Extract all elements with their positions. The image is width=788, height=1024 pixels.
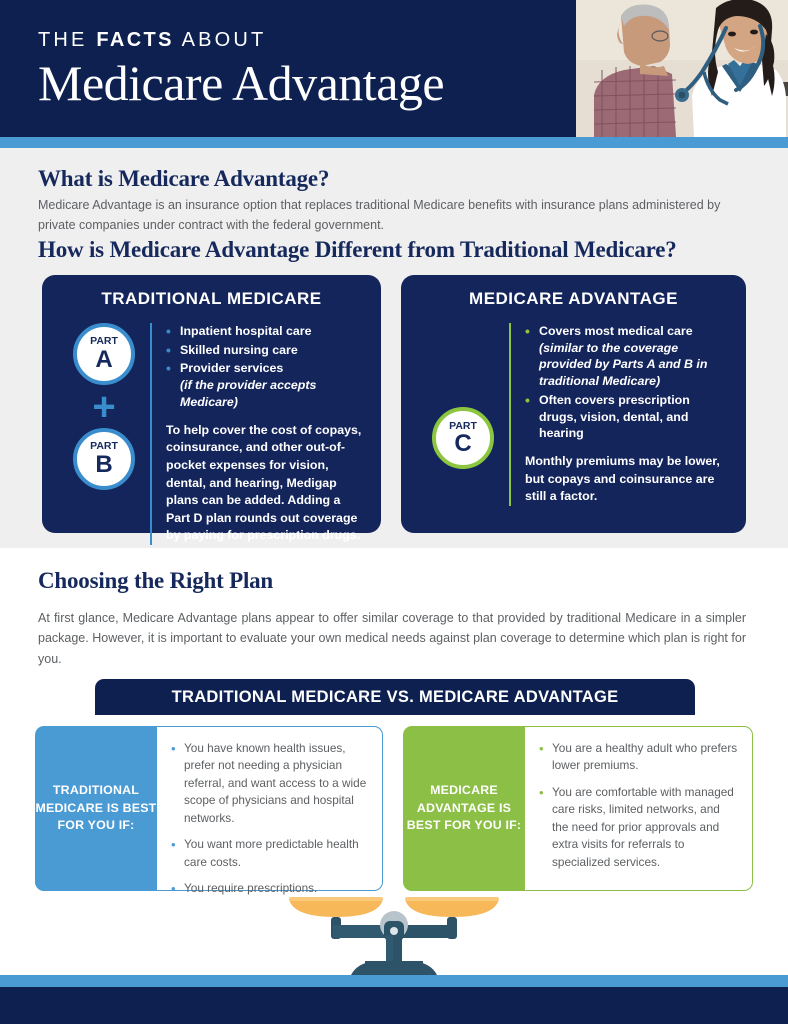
choosing-plan-section: Choosing the Right Plan At first glance,… (0, 548, 788, 975)
part-a-badge: PART A (73, 323, 135, 385)
list-item: You are comfortable with managed care ri… (539, 784, 738, 871)
doctor-patient-photo (576, 0, 788, 137)
what-is-block: What is Medicare Advantage? Medicare Adv… (38, 166, 738, 236)
advantage-divider (509, 323, 511, 506)
traditional-card-text: Inpatient hospital care Skilled nursing … (166, 323, 365, 545)
traditional-criteria-list: You have known health issues, prefer not… (171, 740, 368, 898)
advantage-panel-label: MEDICARE ADVANTAGE IS BEST FOR YOU IF: (403, 726, 525, 891)
advantage-card-title: MEDICARE ADVANTAGE (417, 289, 730, 309)
kicker-bold: FACTS (96, 29, 174, 51)
parts-column-c: PART C (417, 323, 509, 506)
traditional-medicare-card: TRADITIONAL MEDICARE PART A + PART B (42, 275, 381, 533)
advantage-panel-content: You are a healthy adult who prefers lowe… (525, 726, 753, 891)
footer-accent-bar (0, 975, 788, 987)
what-is-heading: What is Medicare Advantage? (38, 166, 738, 192)
header-kicker: THE FACTS ABOUT (38, 30, 444, 50)
advantage-paragraph: Monthly premiums may be lower, but copay… (525, 453, 730, 506)
list-item: Covers most medical care (similar to the… (525, 323, 730, 390)
advantage-card-text: Covers most medical care (similar to the… (525, 323, 730, 506)
footer-bar (0, 987, 788, 1024)
plan-cards: TRADITIONAL MEDICARE PART A + PART B (42, 275, 746, 533)
choosing-paragraph: At first glance, Medicare Advantage plan… (38, 608, 746, 669)
parts-column-ab: PART A + PART B (58, 323, 150, 545)
traditional-card-body: PART A + PART B Inpatient hospital care … (58, 323, 365, 545)
traditional-paragraph: To help cover the cost of copays, coinsu… (166, 422, 365, 545)
traditional-best-for-panel: TRADITIONAL MEDICARE IS BEST FOR YOU IF:… (35, 726, 383, 891)
covers-medical-care-note: (similar to the coverage provided by Par… (539, 341, 707, 388)
choosing-heading: Choosing the Right Plan (38, 568, 273, 594)
advantage-best-for-panel: MEDICARE ADVANTAGE IS BEST FOR YOU IF: Y… (403, 726, 753, 891)
intro-and-comparison-section: What is Medicare Advantage? Medicare Adv… (0, 148, 788, 548)
list-item: Often covers prescription drugs, vision,… (525, 392, 730, 442)
advantage-card-body: PART C Covers most medical care (similar… (417, 323, 730, 506)
comparison-panels: TRADITIONAL MEDICARE IS BEST FOR YOU IF:… (35, 726, 753, 891)
list-item: You are a healthy adult who prefers lowe… (539, 740, 738, 775)
list-item: You have known health issues, prefer not… (171, 740, 368, 827)
photo-illustration (576, 0, 788, 137)
balance-scale-illustration (283, 891, 505, 975)
traditional-bullets: Inpatient hospital care Skilled nursing … (166, 323, 365, 411)
what-is-paragraph: Medicare Advantage is an insurance optio… (38, 195, 738, 236)
balance-scale-icon (283, 891, 505, 980)
advantage-bullets: Covers most medical care (similar to the… (525, 323, 730, 442)
page-header: THE FACTS ABOUT Medicare Advantage (0, 0, 788, 137)
medicare-advantage-card: MEDICARE ADVANTAGE PART C Covers most me… (401, 275, 746, 533)
part-a-letter: A (95, 347, 112, 372)
header-accent-bar (0, 137, 788, 148)
provider-services-note: (if the provider accepts Medicare) (180, 378, 316, 409)
advantage-criteria-list: You are a healthy adult who prefers lowe… (539, 740, 738, 871)
list-item: You want more predictable health care co… (171, 836, 368, 871)
covers-medical-care-text: Covers most medical care (539, 324, 693, 338)
provider-services-text: Provider services (180, 361, 283, 375)
kicker-post: ABOUT (174, 29, 267, 51)
how-different-heading: How is Medicare Advantage Different from… (38, 237, 677, 263)
part-c-badge: PART C (432, 407, 494, 469)
list-item: Inpatient hospital care (166, 323, 365, 340)
comparison-table-header: TRADITIONAL MEDICARE VS. MEDICARE ADVANT… (95, 679, 695, 715)
part-b-badge: PART B (73, 428, 135, 490)
traditional-panel-label: TRADITIONAL MEDICARE IS BEST FOR YOU IF: (35, 726, 157, 891)
traditional-divider (150, 323, 152, 545)
page-title: Medicare Advantage (38, 54, 444, 113)
traditional-card-title: TRADITIONAL MEDICARE (58, 289, 365, 309)
header-title-block: THE FACTS ABOUT Medicare Advantage (38, 30, 444, 113)
list-item: Skilled nursing care (166, 342, 365, 359)
traditional-panel-content: You have known health issues, prefer not… (157, 726, 383, 891)
part-b-letter: B (95, 452, 112, 477)
kicker-pre: THE (38, 29, 96, 51)
comparison-header-label: TRADITIONAL MEDICARE VS. MEDICARE ADVANT… (172, 688, 619, 707)
plus-icon: + (92, 392, 115, 422)
part-c-letter: C (454, 431, 471, 456)
list-item: Provider services(if the provider accept… (166, 360, 365, 410)
